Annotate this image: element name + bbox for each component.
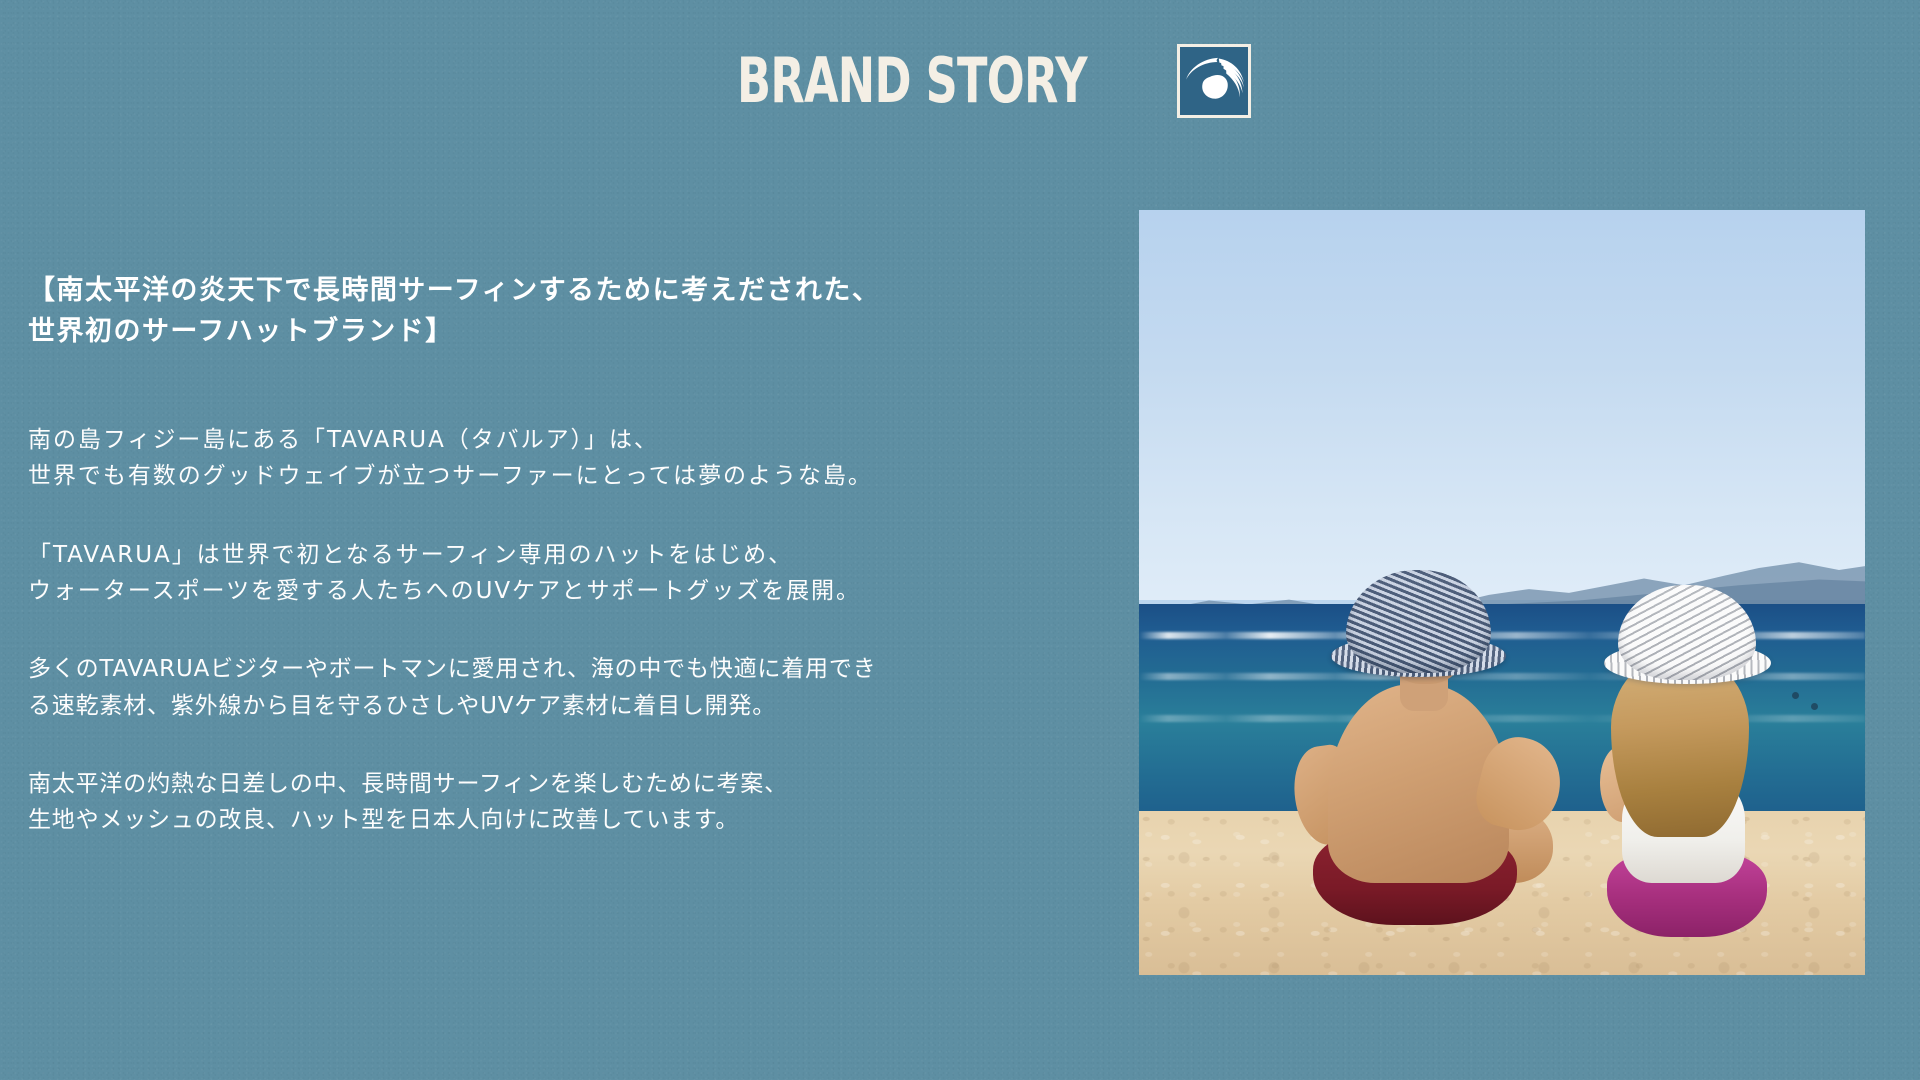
paragraph-line: 「TAVARUA」は世界で初となるサーフィン専用のハットをはじめ、	[28, 537, 1118, 573]
paragraph-line: 生地やメッシュの改良、ハット型を日本人向けに改善しています。	[28, 802, 1118, 838]
paragraph-line: ウォータースポーツを愛する人たちへのUVケアとサポートグッズを展開。	[28, 573, 1118, 609]
slide-root: BRAND STORY 【南太平洋の炎天下で長時間サーフィンするために考えだされ…	[0, 0, 1920, 1080]
paragraph-island: 南の島フィジー島にある「TAVARUA（タバルア）」は、 世界でも有数のグッドウ…	[28, 422, 1118, 495]
paragraph-materials: 多くのTAVARUAビジターやボートマンに愛用され、海の中でも快適に着用でき る…	[28, 651, 1118, 724]
page-title: BRAND STORY	[737, 50, 1087, 112]
paragraph-line: 世界でも有数のグッドウェイブが立つサーファーにとっては夢のような島。	[28, 458, 1118, 494]
paragraph-line: る速乾素材、紫外線から目を守るひさしやUVケア素材に着目し開発。	[28, 688, 1118, 724]
paragraph-development: 南太平洋の灼熱な日差しの中、長時間サーフィンを楽しむために考案、 生地やメッシュ…	[28, 766, 1118, 839]
paragraph-line: 南の島フィジー島にある「TAVARUA（タバルア）」は、	[28, 422, 1118, 458]
beach-couple-photo	[1139, 210, 1865, 975]
page-header: BRAND STORY	[0, 44, 1920, 118]
paragraph-line: 多くのTAVARUAビジターやボートマンに愛用され、海の中でも快適に着用でき	[28, 651, 1118, 687]
lede-heading: 【南太平洋の炎天下で長時間サーフィンするために考えだされた、 世界初のサーフハッ…	[28, 270, 1118, 352]
paragraph-line: 南太平洋の灼熱な日差しの中、長時間サーフィンを楽しむために考案、	[28, 766, 1118, 802]
photo-surf-line	[1139, 715, 1865, 722]
paragraph-products: 「TAVARUA」は世界で初となるサーフィン専用のハットをはじめ、 ウォータース…	[28, 537, 1118, 610]
wave-barrel-logo-icon	[1177, 44, 1251, 118]
story-text-column: 【南太平洋の炎天下で長時間サーフィンするために考えだされた、 世界初のサーフハッ…	[28, 270, 1118, 839]
photo-sky	[1139, 210, 1865, 600]
photo-surf-line	[1139, 632, 1865, 639]
photo-distant-surfer	[1811, 703, 1818, 710]
